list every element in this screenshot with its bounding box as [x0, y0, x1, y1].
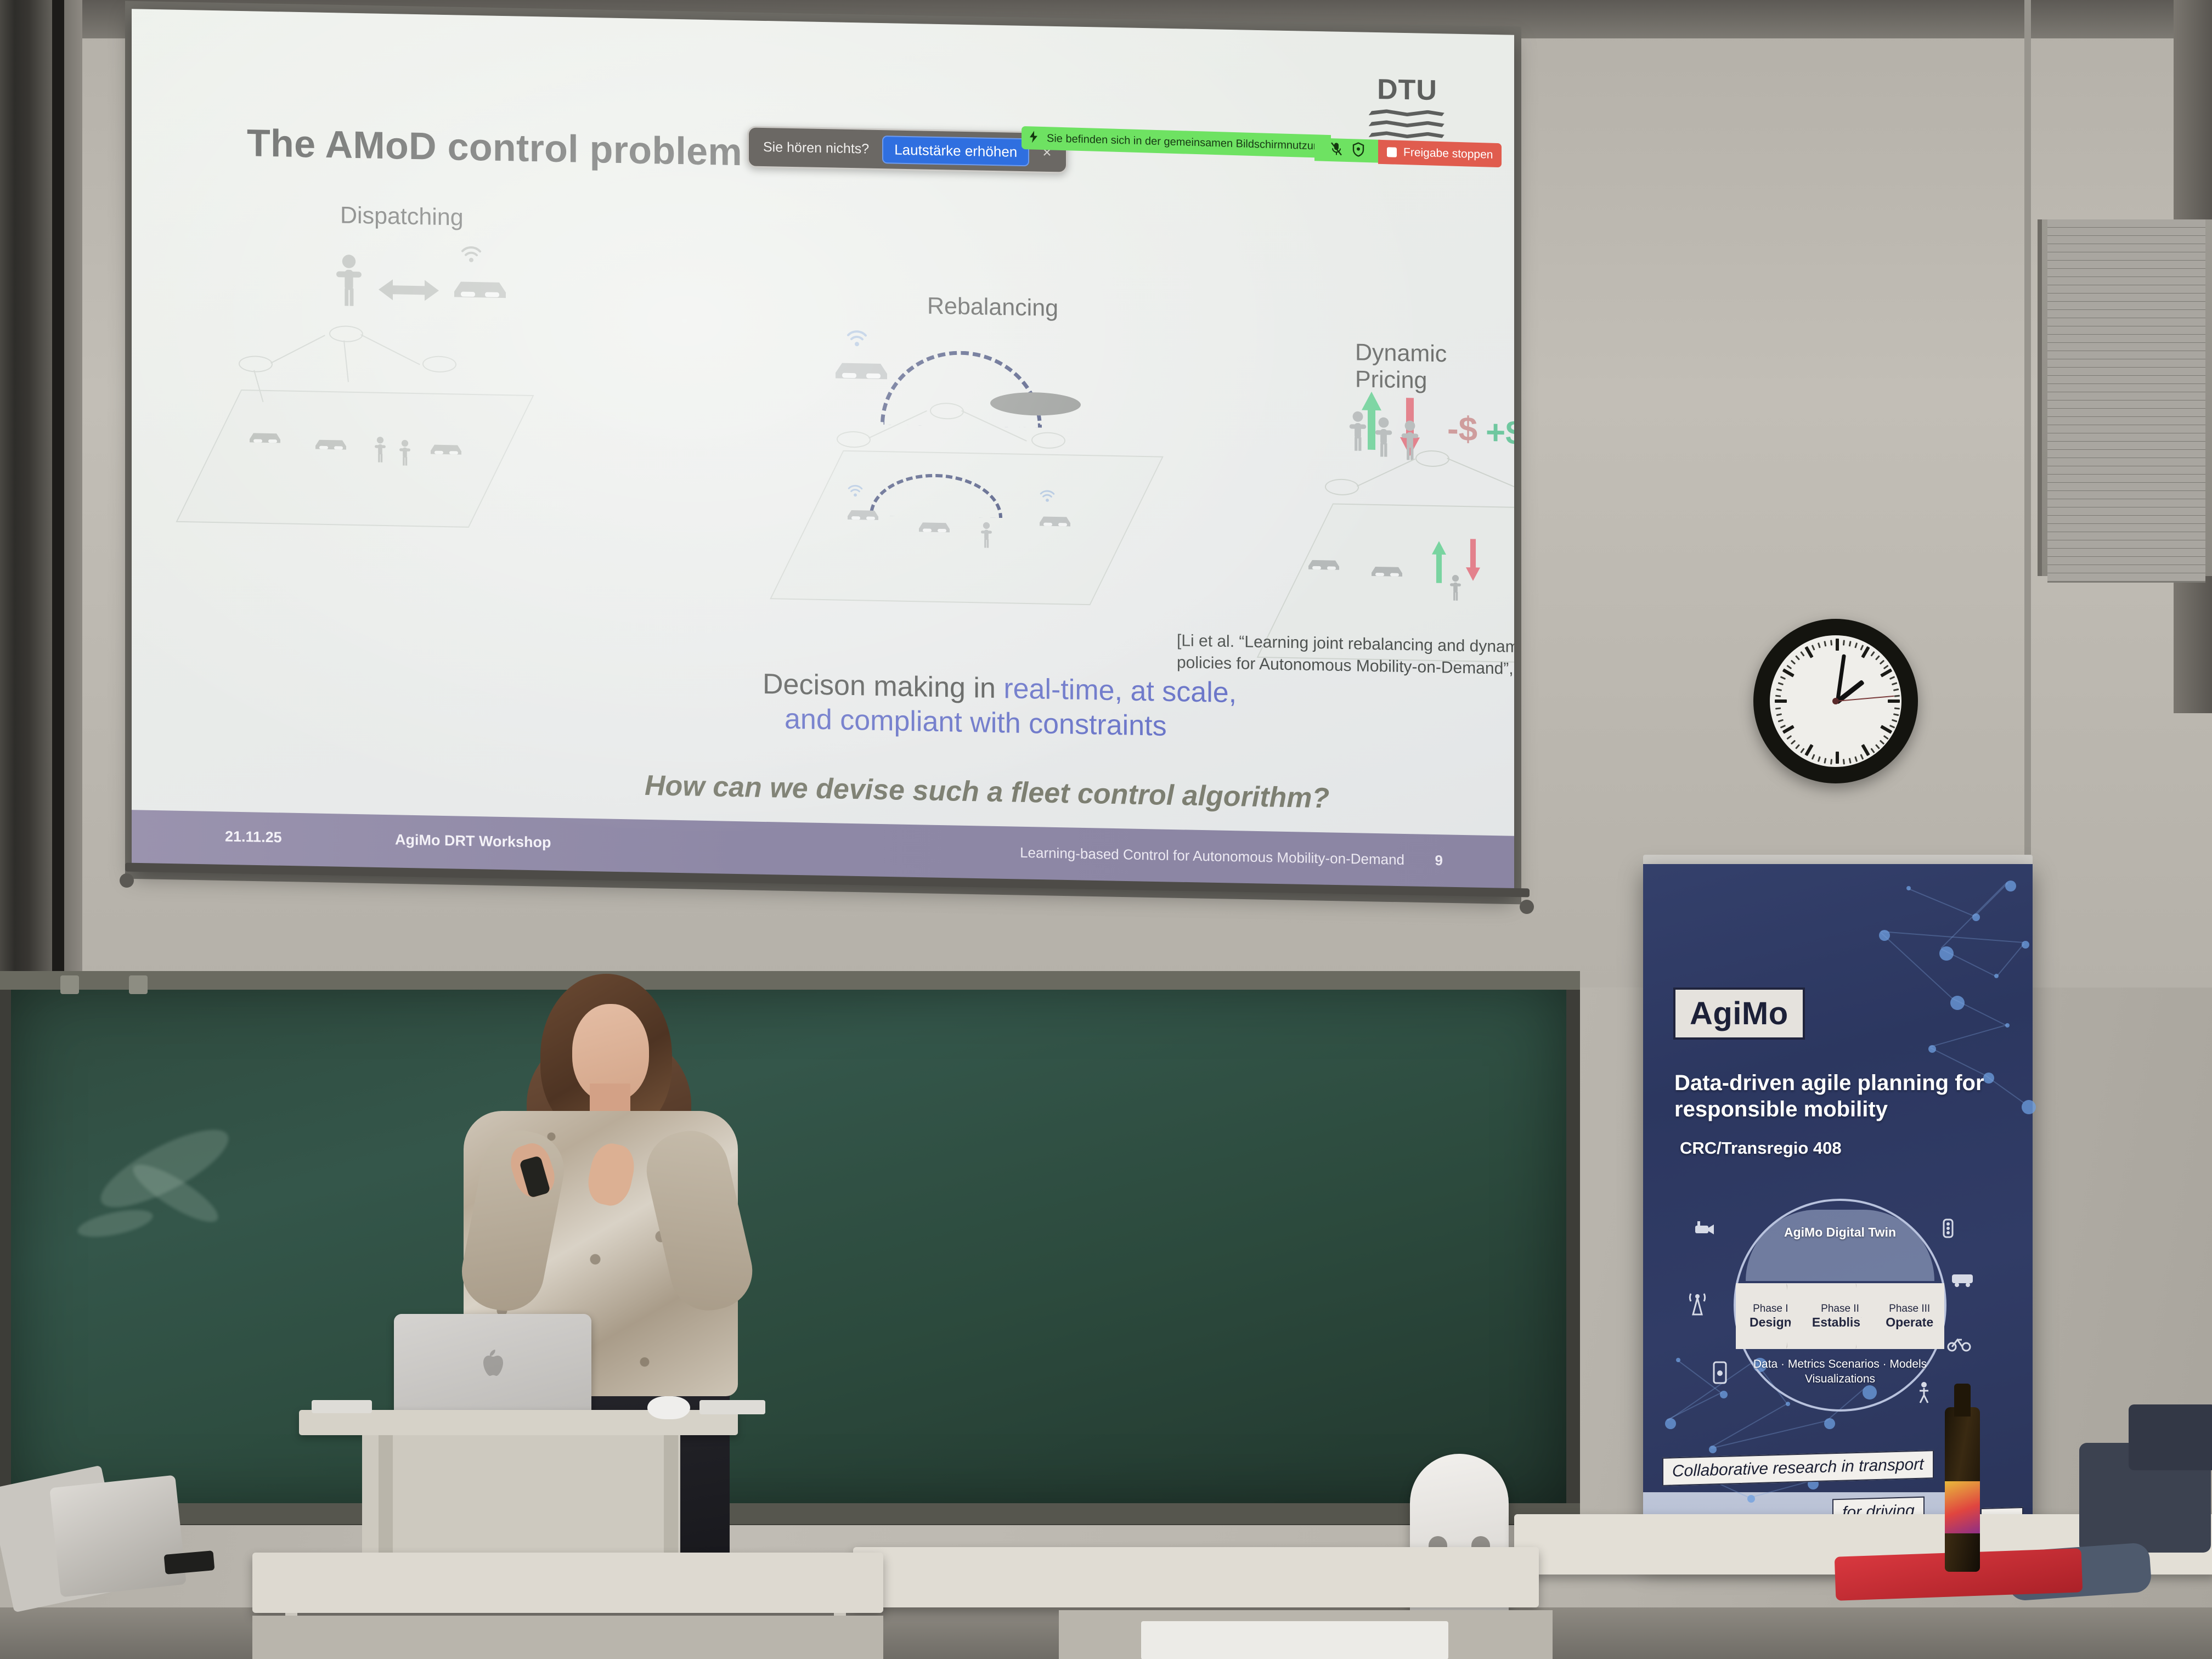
price-increase-label: +$ — [1486, 413, 1514, 453]
network-edge-line — [1881, 931, 2024, 943]
pedestrian-icon — [1373, 416, 1395, 459]
bottle-neck — [1954, 1384, 1971, 1417]
car-icon — [916, 517, 952, 534]
clock-tick — [1854, 642, 1858, 648]
apple-icon — [479, 1348, 506, 1380]
front-desk-left — [252, 1553, 883, 1613]
clock-tick — [1778, 682, 1783, 685]
clock-tick — [1870, 651, 1875, 657]
desk-object — [699, 1400, 765, 1414]
network-node-dot — [1824, 1418, 1835, 1429]
screen-rod-end-left — [120, 873, 134, 888]
network-edge-line — [1952, 998, 2007, 1026]
chalkboard-clip[interactable] — [129, 975, 148, 994]
screenshare-message: Sie befinden sich in der gemeinsamen Bil… — [1047, 132, 1325, 153]
clock-tick — [1893, 689, 1898, 691]
wifi-signal-icon — [848, 484, 863, 497]
clock-tick — [1894, 707, 1899, 709]
lectern-body — [362, 1435, 680, 1572]
clock-tick — [1836, 752, 1839, 764]
clock-tick — [1800, 651, 1804, 657]
clock-tick — [1778, 719, 1783, 723]
clock-tick — [1861, 744, 1870, 756]
grid-plane-dispatching — [176, 390, 534, 528]
agimo-digital-twin-wheel: AgiMo Digital Twin Phase I Design Phase … — [1734, 1199, 1946, 1412]
network-edge-line — [1711, 1403, 1788, 1448]
autonomous-car-icon — [450, 273, 510, 302]
car-icon — [1037, 511, 1073, 528]
antenna-icon — [1685, 1291, 1709, 1319]
footer-date: 21.11.25 — [225, 828, 282, 846]
wifi-signal-icon — [461, 246, 482, 263]
clock-tick — [1888, 699, 1900, 703]
graph-node — [837, 431, 871, 448]
left-window-frame — [0, 0, 82, 988]
clock-tick — [1880, 668, 1892, 677]
screenshot-root: The AMoD control problem DTU Dispatching… — [0, 0, 2212, 1659]
decision-plain: Decison making in — [763, 668, 1003, 704]
car-icon — [831, 354, 891, 383]
graph-edge — [1357, 459, 1415, 487]
price-up-arrow-icon — [1432, 541, 1446, 583]
window-blinds — [2038, 219, 2212, 576]
car-icon — [428, 439, 464, 456]
clock-tick — [1790, 740, 1795, 744]
wall-seam — [2024, 0, 2031, 960]
chalkboard-top-rail — [0, 971, 1580, 990]
screenshare-icon-group[interactable] — [1314, 138, 1380, 162]
dtu-logo-text: DTU — [1366, 75, 1448, 105]
grid-plane-rebalancing — [770, 450, 1164, 605]
rebalancing-arc — [881, 349, 1042, 428]
clock-tick — [1830, 640, 1832, 645]
clock-face — [1770, 635, 1901, 767]
conference-speakerphone[interactable] — [1410, 1454, 1509, 1635]
phase-3-name: Operate — [1886, 1315, 1933, 1330]
clock-tick — [1891, 719, 1897, 723]
office-chair-back — [2129, 1404, 2212, 1470]
clock-tick — [1894, 695, 1899, 697]
desk-object — [312, 1400, 372, 1413]
chalkboard[interactable] — [11, 982, 1566, 1511]
clock-tick — [1883, 665, 1888, 669]
phase-1-number: Phase I — [1753, 1303, 1788, 1315]
clock-tick — [1800, 748, 1804, 753]
chalkboard-clip[interactable] — [60, 975, 79, 994]
clock-tick — [1776, 689, 1781, 691]
dtu-logo: DTU — [1366, 75, 1448, 144]
pedestrian-icon — [1347, 410, 1369, 453]
stop-sharing-button[interactable]: Freigabe stoppen — [1378, 140, 1502, 167]
phase-3-number: Phase III — [1889, 1303, 1930, 1315]
section-label-rebalancing: Rebalancing — [927, 293, 1058, 323]
phase-1-name: Design — [1750, 1315, 1792, 1330]
pedestrian-icon — [979, 521, 994, 549]
clock-center-pin — [1832, 698, 1839, 704]
clock-tick — [1830, 759, 1832, 764]
bus-icon — [1951, 1272, 1974, 1291]
network-edge-line — [1711, 1420, 1826, 1449]
phase-2-number: Phase II — [1821, 1303, 1859, 1315]
chalkboard-chalk-rail — [0, 1503, 1580, 1524]
clock-tick — [1795, 655, 1800, 660]
network-edge-line — [1930, 1024, 2007, 1047]
network-edge-line — [1974, 883, 2008, 916]
slide-question: How can we devise such a fleet control a… — [645, 769, 1329, 815]
graph-edge — [343, 341, 349, 382]
clock-tick — [1842, 759, 1844, 764]
clock-tick — [1842, 640, 1844, 645]
clock-tick — [1875, 655, 1880, 660]
graph-node — [1415, 450, 1449, 467]
decision-highlight-1: real-time, at scale, — [1003, 673, 1237, 709]
car-icon — [313, 435, 349, 452]
clock-tick — [1782, 668, 1795, 677]
car-icon — [1306, 555, 1342, 572]
audio-toast-message: Sie hören nichts? — [763, 139, 869, 157]
clock-tick — [1795, 744, 1800, 749]
graph-node — [1031, 432, 1065, 449]
stop-square-icon — [1387, 147, 1397, 157]
wifi-signal-icon — [847, 330, 867, 347]
window-blind-slat — [2047, 573, 2205, 583]
pedestrian-icon — [335, 254, 363, 307]
graph-node — [329, 325, 363, 342]
clock-tick — [1775, 707, 1780, 709]
slide-title: The AMoD control problem — [247, 121, 742, 174]
section-label-dynamic-pricing: Dynamic Pricing — [1355, 339, 1514, 396]
price-down-arrow-icon — [1466, 539, 1480, 580]
clock-tick — [1875, 744, 1880, 749]
wheel-phase-band: Phase I Design Phase II Establish Phase … — [1736, 1283, 1944, 1349]
increase-volume-button[interactable]: Lautstärke erhöhen — [882, 136, 1029, 166]
pedestrian-icon — [373, 436, 387, 464]
clock-tick — [1775, 699, 1787, 703]
papers-on-desk — [1141, 1621, 1448, 1659]
price-decrease-label: -$ — [1447, 409, 1477, 449]
clock-tick — [1804, 744, 1813, 756]
bottle-label — [1945, 1481, 1980, 1533]
clock-tick — [1786, 735, 1792, 740]
citation-text: [Li et al. “Learning joint rebalancing a… — [1177, 630, 1514, 681]
graph-node — [239, 356, 273, 373]
front-desk-center — [853, 1547, 1539, 1607]
section-label-dispatching: Dispatching — [340, 202, 464, 231]
network-edge-line — [1908, 888, 1974, 917]
clock-tick — [1824, 758, 1826, 763]
car-icon — [247, 428, 283, 445]
network-edge-line — [1881, 932, 1953, 998]
decision-statement: Decison making in real-time, at scale, a… — [763, 667, 1237, 746]
clock-tick — [1786, 665, 1792, 669]
clock-tick — [1848, 758, 1851, 763]
banner-subtitle: CRC/Transregio 408 — [1680, 1138, 1842, 1158]
stop-sharing-label: Freigabe stoppen — [1403, 146, 1493, 162]
clock-tick — [1860, 645, 1864, 650]
computer-monitor[interactable] — [49, 1475, 187, 1598]
bicycle-icon — [1947, 1335, 1971, 1356]
wall-clock — [1753, 619, 1918, 783]
pedestrian-icon — [1448, 574, 1463, 601]
camera-icon — [1693, 1220, 1715, 1240]
clock-tick — [1889, 676, 1894, 680]
clock-tick — [1854, 756, 1858, 761]
double-arrow-icon — [379, 277, 439, 303]
clock-tick — [1817, 756, 1820, 761]
wifi-signal-icon — [1040, 489, 1055, 502]
clock-tick — [1811, 645, 1815, 650]
phase-1: Phase I Design — [1736, 1283, 1805, 1349]
phase-3: Phase III Operate — [1875, 1283, 1944, 1349]
graph-edge — [270, 335, 325, 364]
wheel-bottom-caption: Data · Metrics Scenarios · Models Visual… — [1736, 1357, 1944, 1387]
screenshare-indicator-icon — [1028, 131, 1039, 146]
desk-panel-left — [252, 1616, 883, 1659]
clock-tick — [1891, 682, 1897, 685]
audio-toast[interactable]: Sie hören nichts? Lautstärke erhöhen × — [747, 126, 1068, 173]
decision-highlight-2: and compliant with constraints — [785, 702, 1167, 744]
clock-tick — [1893, 713, 1898, 716]
clock-tick — [1776, 713, 1781, 716]
phase-2: Phase II Establish — [1805, 1283, 1875, 1349]
clock-tick — [1848, 641, 1851, 646]
agimo-logo: AgiMo — [1673, 988, 1805, 1040]
footer-talk-title: Learning-based Control for Autonomous Mo… — [1020, 844, 1404, 868]
screen-rod-end-right — [1520, 900, 1534, 914]
clock-tick — [1860, 754, 1864, 759]
footer-event: AgiMo DRT Workshop — [395, 831, 551, 851]
computer-mouse[interactable] — [647, 1396, 690, 1419]
clock-tick — [1836, 639, 1839, 651]
car-icon — [845, 505, 881, 522]
pedestrian-walk-icon — [1917, 1382, 1931, 1408]
phase-2-name: Establish — [1812, 1315, 1868, 1330]
macbook-laptop[interactable] — [394, 1314, 591, 1418]
banner-headline: Data-driven agile planning for responsib… — [1674, 1070, 2004, 1122]
clock-tick — [1870, 748, 1875, 753]
clock-tick — [1780, 676, 1785, 680]
clock-tick — [1879, 740, 1884, 744]
shield-icon[interactable] — [1352, 142, 1364, 160]
car-icon — [1369, 562, 1405, 579]
network-edge-line — [1996, 943, 2025, 977]
wheel-title: AgiMo Digital Twin — [1746, 1225, 1934, 1240]
microphone-muted-icon[interactable] — [1330, 142, 1342, 159]
clock-tick — [1879, 660, 1884, 665]
agimo-logo-text: AgiMo — [1690, 996, 1788, 1031]
graph-node — [1325, 478, 1359, 495]
clock-tick — [1790, 660, 1795, 665]
traffic-light-icon — [1939, 1218, 1957, 1245]
clock-tick — [1824, 641, 1826, 646]
clock-tick — [1811, 754, 1815, 759]
graph-edge — [360, 334, 420, 365]
network-edge-line — [1941, 949, 1996, 977]
clock-tick — [1780, 725, 1785, 729]
clock-tick — [1817, 642, 1820, 648]
phone-icon — [1711, 1360, 1729, 1388]
left-window-mullion — [52, 0, 64, 988]
clock-tick — [1889, 725, 1894, 729]
graph-node — [422, 356, 456, 373]
footer-page-number: 9 — [1435, 852, 1443, 869]
dtu-waves-icon — [1366, 109, 1448, 139]
pedestrian-icon — [398, 439, 412, 466]
graph-edge — [1447, 458, 1514, 487]
clock-tick — [1883, 735, 1888, 740]
clock-tick — [1775, 695, 1780, 697]
